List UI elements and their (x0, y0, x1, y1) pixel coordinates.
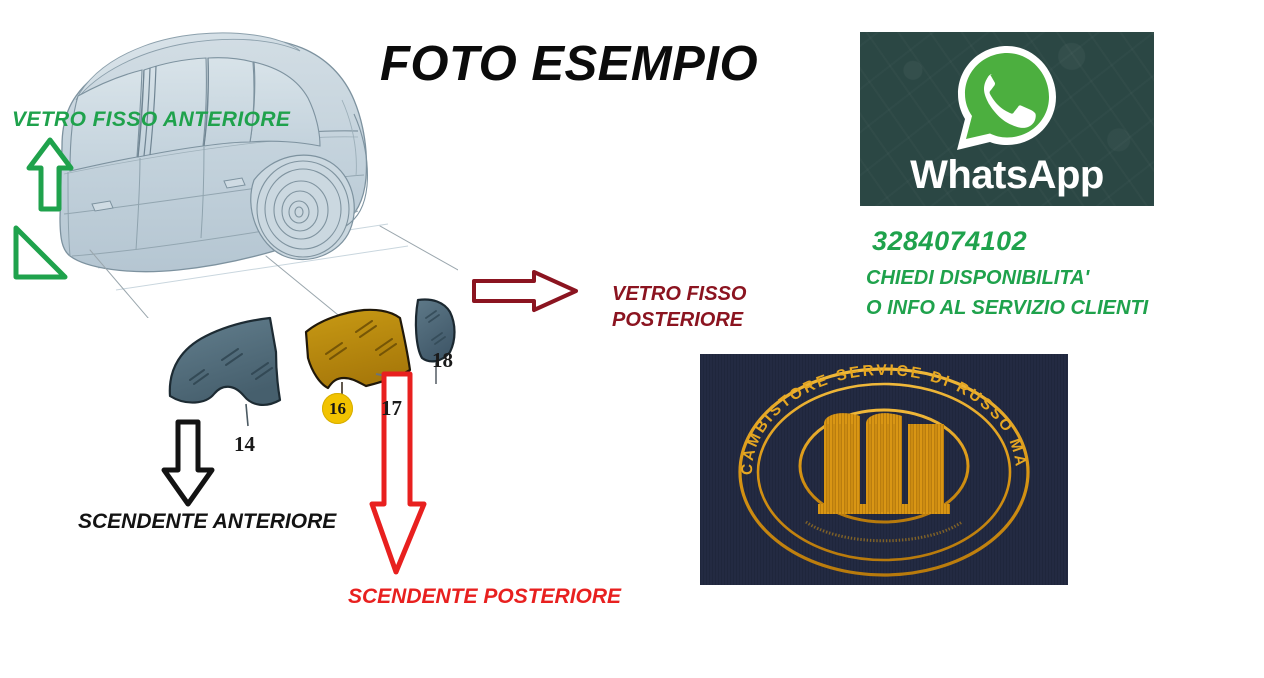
whatsapp-icon (949, 40, 1065, 156)
label-scendente-posteriore: SCENDENTE POSTERIORE (348, 585, 621, 609)
contact-line-1: CHIEDI DISPONIBILITA' (866, 267, 1089, 290)
part-number-17: 17 (381, 396, 402, 421)
label-vetro-fisso-posteriore-line2: POSTERIORE (612, 307, 746, 333)
phone-number: 3284074102 (872, 226, 1027, 257)
part-14-shape (170, 318, 280, 426)
part-number-18: 18 (432, 348, 453, 373)
down-arrow-black-icon (160, 418, 216, 508)
company-logo-photo: MRICAMBISTORE SERVICE DI RUSSO MARCO (700, 354, 1068, 585)
label-vetro-fisso-posteriore: VETRO FISSO POSTERIORE (612, 281, 746, 334)
part-number-16-badge: 16 (322, 393, 353, 424)
logo-monogram (818, 413, 950, 514)
up-arrow-green-icon (26, 137, 74, 213)
whatsapp-banner: WhatsApp (860, 32, 1154, 206)
right-arrow-maroon-icon (470, 268, 580, 314)
triangle-green-icon (8, 222, 70, 284)
label-vetro-fisso-posteriore-line1: VETRO FISSO (612, 281, 746, 307)
label-vetro-fisso-anteriore: VETRO FISSO ANTERIORE (12, 108, 290, 132)
whatsapp-wordmark: WhatsApp (860, 153, 1154, 198)
page-title: FOTO ESEMPIO (380, 36, 758, 92)
part-number-14: 14 (234, 432, 255, 457)
label-scendente-anteriore: SCENDENTE ANTERIORE (78, 510, 336, 534)
screenshot-canvas: FOTO ESEMPIO VETRO FISSO ANTERIORE VETRO… (0, 0, 1264, 678)
contact-line-2: O INFO AL SERVIZIO CLIENTI (866, 297, 1148, 320)
